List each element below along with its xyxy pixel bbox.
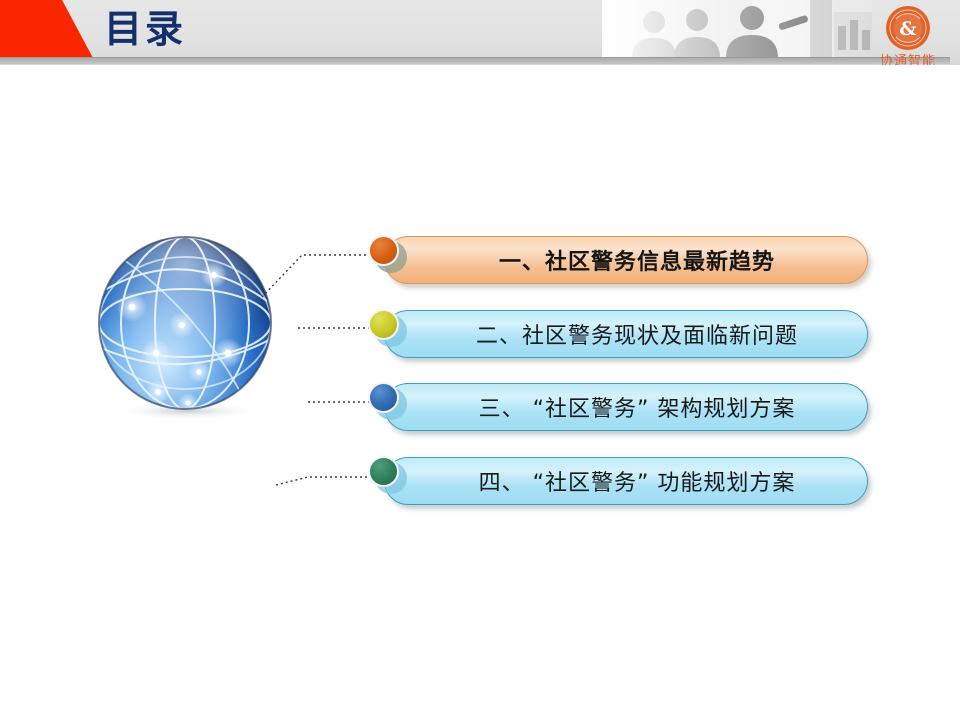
page-title: 目录: [104, 4, 186, 54]
toc-item-2[interactable]: 二、社区警务现状及面临新问题: [384, 310, 868, 358]
toc-item-1[interactable]: 一、社区警务信息最新趋势: [384, 236, 868, 284]
toc-item-3-label: 三、 “社区警务” 架构规划方案: [457, 391, 796, 423]
bullet-orb-icon: [368, 382, 399, 413]
toc-bullet-4[interactable]: [368, 456, 410, 496]
slide-header: 目录 & 协通智能: [0, 0, 960, 65]
bullet-orb-icon: [368, 235, 399, 266]
toc-item-3[interactable]: 三、 “社区警务” 架构规划方案: [384, 383, 868, 431]
header-accent-shape: [0, 0, 100, 58]
toc-bullet-2[interactable]: [368, 309, 410, 349]
toc-item-1-label: 一、社区警务信息最新趋势: [477, 244, 775, 276]
svg-text:&: &: [899, 18, 916, 40]
toc-item-2-label: 二、社区警务现状及面临新问题: [454, 318, 798, 350]
toc-bullet-3[interactable]: [368, 382, 410, 422]
connector-4: [276, 477, 378, 485]
toc-bullet-1[interactable]: [368, 235, 410, 275]
toc-item-4[interactable]: 四、 “社区警务” 功能规划方案: [384, 457, 868, 505]
network-globe-graphic: [95, 235, 280, 420]
toc-item-4-label: 四、 “社区警务” 功能规划方案: [457, 465, 796, 497]
header-photo: [602, 0, 872, 58]
bullet-orb-icon: [368, 456, 399, 487]
xietong-logo-icon: &: [884, 4, 932, 52]
brand-name: 协通智能: [868, 50, 948, 65]
bullet-orb-icon: [368, 309, 399, 340]
brand-logo: & 协通智能: [868, 4, 948, 65]
slide-body: 一、社区警务信息最新趋势 二、社区警务现状及面临新问题 三、 “社区警务” 架构…: [0, 65, 960, 720]
header-divider: [0, 57, 950, 64]
